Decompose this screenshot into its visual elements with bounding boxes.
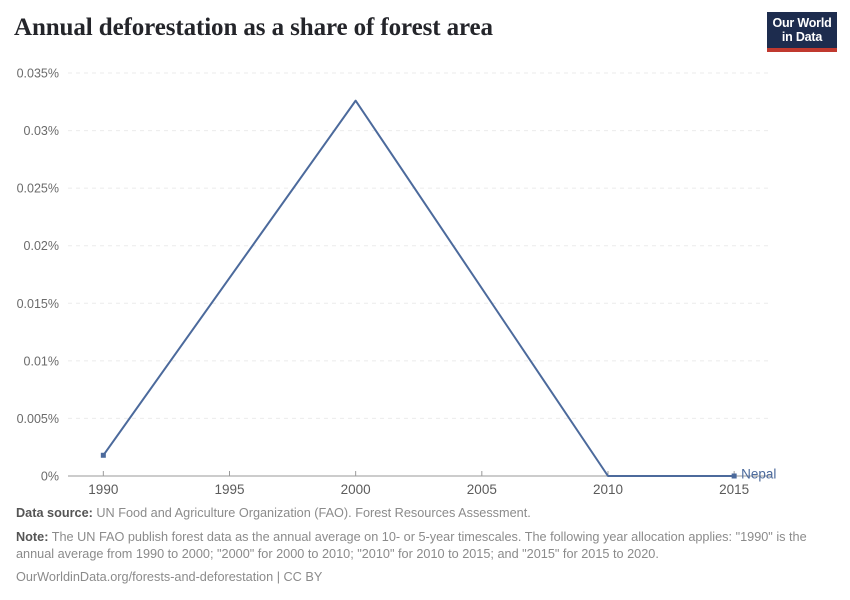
y-axis-tick-label: 0.005%	[17, 412, 59, 426]
y-axis-tick-labels: 0%0.005%0.01%0.015%0.02%0.025%0.03%0.035…	[17, 67, 59, 484]
y-axis-tick-label: 0.015%	[17, 297, 59, 311]
y-axis-tick-label: 0.01%	[24, 354, 59, 368]
logo-line-2: in Data	[767, 30, 837, 44]
x-axis-tick-label: 2010	[593, 482, 623, 497]
x-axis-tick-label: 1990	[88, 482, 118, 497]
logo-line-1: Our World	[767, 16, 837, 30]
data-source-label: Data source:	[16, 506, 93, 520]
data-source-row: Data source: UN Food and Agriculture Org…	[16, 505, 834, 523]
data-source-text: UN Food and Agriculture Organization (FA…	[96, 506, 530, 520]
chart-footer: Data source: UN Food and Agriculture Org…	[0, 505, 850, 584]
x-axis-tick-label: 1995	[214, 482, 244, 497]
x-axis-tick-label: 2015	[719, 482, 749, 497]
our-world-in-data-logo[interactable]: Our World in Data	[767, 12, 837, 52]
page-title: Annual deforestation as a share of fores…	[14, 14, 493, 42]
source-link[interactable]: OurWorldinData.org/forests-and-deforesta…	[16, 570, 834, 584]
gridlines	[68, 73, 772, 418]
y-axis-tick-label: 0.025%	[17, 182, 59, 196]
x-axis-tick-label: 2005	[467, 482, 497, 497]
data-series[interactable]: Nepal	[101, 101, 777, 482]
series-line-nepal[interactable]	[103, 101, 734, 476]
note-text: The UN FAO publish forest data as the an…	[16, 530, 807, 562]
chart-page: Annual deforestation as a share of fores…	[0, 0, 850, 600]
series-label-nepal[interactable]: Nepal	[741, 467, 776, 482]
note-label: Note:	[16, 530, 48, 544]
y-axis-tick-label: 0.03%	[24, 124, 59, 138]
y-axis-tick-label: 0%	[41, 470, 59, 484]
chart-plot-area: 0%0.005%0.01%0.015%0.02%0.025%0.03%0.035…	[0, 62, 850, 502]
x-axis-tick-labels: 199019952000200520102015	[88, 482, 749, 497]
y-axis-tick-label: 0.02%	[24, 239, 59, 253]
line-chart-svg: 0%0.005%0.01%0.015%0.02%0.025%0.03%0.035…	[0, 62, 850, 502]
y-axis-tick-label: 0.035%	[17, 67, 59, 81]
chart-header: Annual deforestation as a share of fores…	[0, 0, 850, 62]
series-end-marker[interactable]	[732, 474, 737, 479]
note-row: Note: The UN FAO publish forest data as …	[16, 529, 834, 564]
series-start-marker[interactable]	[101, 453, 106, 458]
x-axis-tick-label: 2000	[341, 482, 371, 497]
